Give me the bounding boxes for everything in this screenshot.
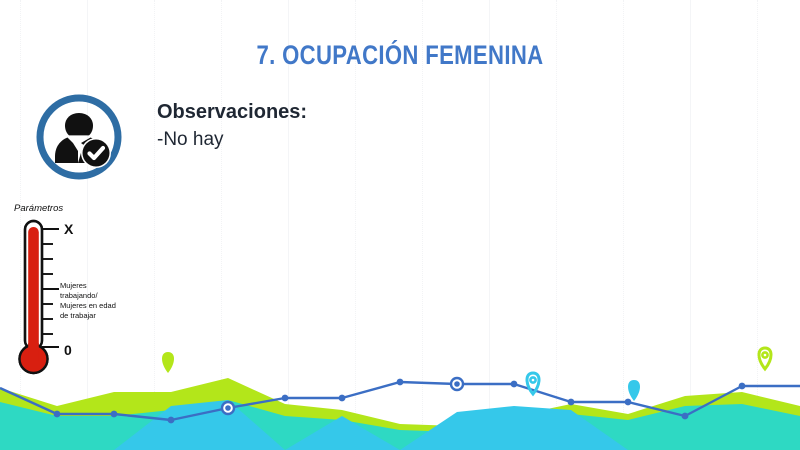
- page-title: 7. OCUPACIÓN FEMENINA: [72, 40, 728, 71]
- female-worker-verified-icon: [33, 91, 125, 183]
- observations-body: -No hay: [157, 128, 307, 153]
- observations-heading: Observaciones:: [157, 100, 307, 125]
- thermometer-bottom-label: 0: [64, 341, 72, 360]
- thermometer-top-label: X: [64, 220, 73, 239]
- thermometer-caption: Parámetros: [14, 203, 63, 214]
- observations-block: Observaciones: -No hay: [157, 100, 307, 153]
- thermometer-middle-label: Mujeres trabajando/ Mujeres en edad de t…: [60, 281, 122, 322]
- slide-canvas: 7. OCUPACIÓN FEMENINA Observaciones: -No…: [0, 0, 800, 450]
- parameters-thermometer: Parámetros: [8, 203, 148, 388]
